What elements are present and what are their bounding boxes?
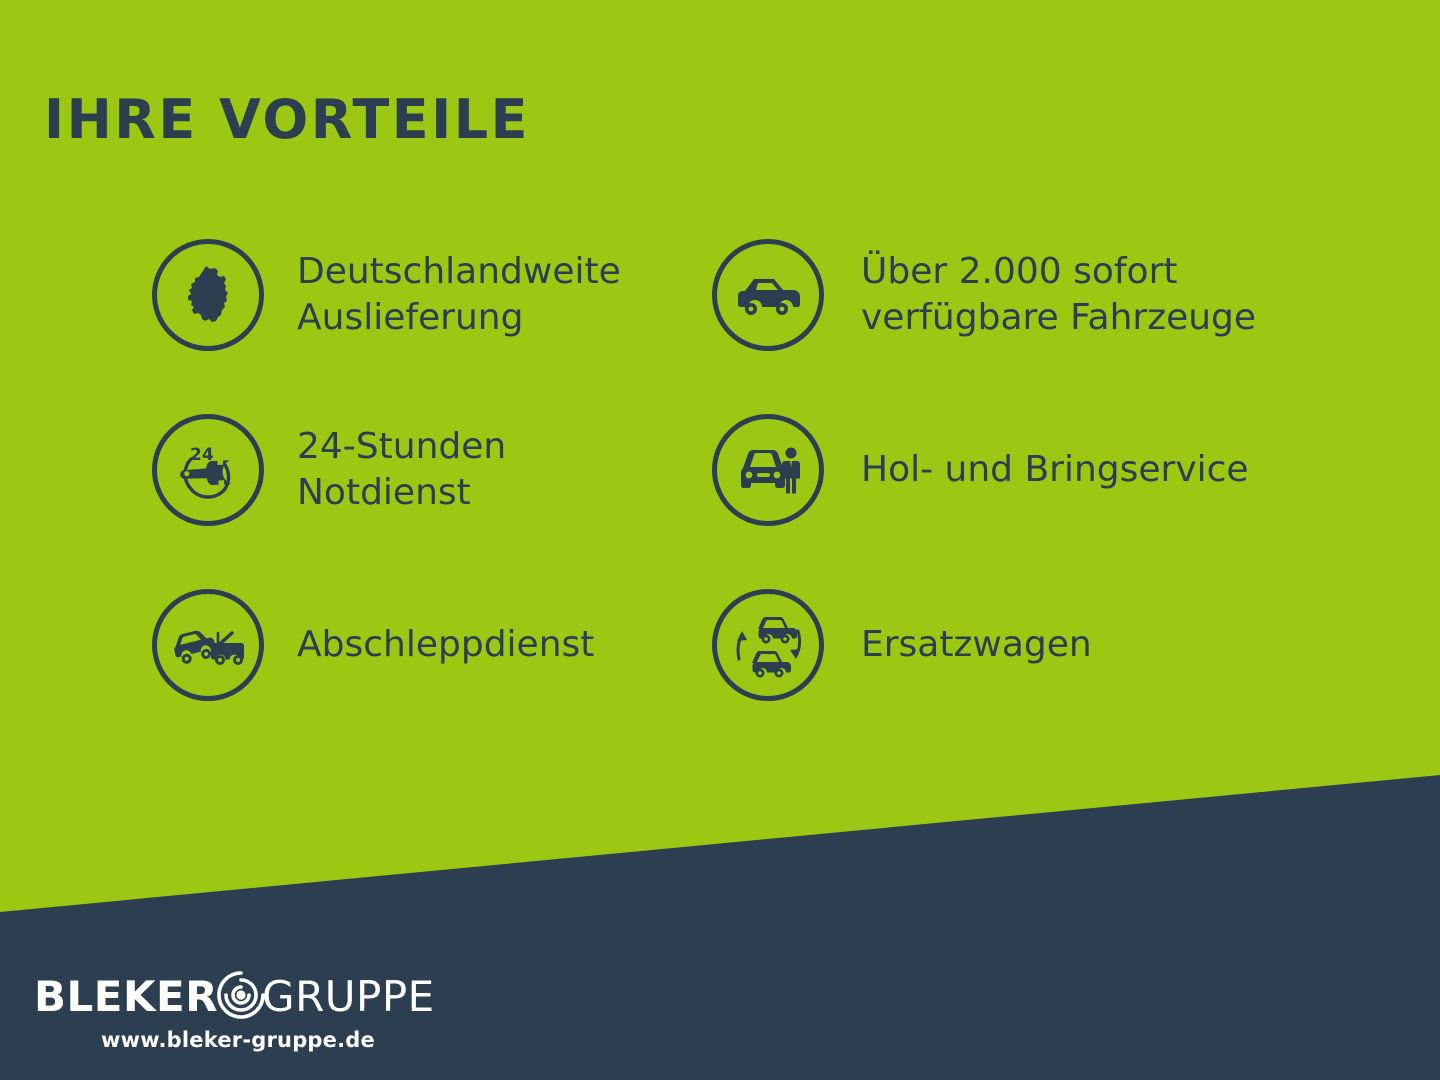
benefit-item-hol-und-bringservice: Hol- und Bringservice [712,397,1272,543]
logo-name-bold: BLEKER [34,976,218,1018]
logo-wordmark: BLEKER GRUPPE [34,974,414,1020]
24-hour-wrench-icon: 24 [173,435,243,505]
benefit-item-verfuegbare-fahrzeuge: Über 2.000 sofort verfügbare Fahrzeuge [712,222,1272,368]
car-side-icon [734,273,802,317]
two-cars-exchange-icon [730,609,806,681]
icon-circle [712,414,824,526]
icon-circle [712,589,824,701]
icon-circle [152,239,264,351]
icon-circle [712,239,824,351]
spiral-icon [214,968,268,1026]
arrow-up [737,631,747,659]
benefit-item-deutschlandweite-auslieferung: Deutschlandweite Auslieferung [152,222,712,368]
page-title: IHRE VORTEILE [44,88,530,151]
logo-name-light: GRUPPE [262,976,435,1018]
benefit-item-ersatzwagen: Ersatzwagen [712,572,1272,718]
company-logo: BLEKER GRUPPE www.bleker-gruppe.de [34,974,414,1052]
benefit-label: Hol- und Bringservice [861,447,1249,493]
tow-truck-icon [169,619,247,671]
benefit-label: Ersatzwagen [861,622,1092,668]
benefit-label: Deutschlandweite Auslieferung [297,249,621,341]
benefits-grid: Deutschlandweite Auslieferung Über 2.000… [152,222,1352,747]
slide-canvas: IHRE VORTEILE Deutschlandweite Ausliefer… [0,0,1440,1080]
benefit-label: 24-Stunden Notdienst [297,424,506,516]
benefit-item-abschleppdienst: Abschleppdienst [152,572,712,718]
logo-website-url: www.bleker-gruppe.de [34,1028,414,1052]
benefit-label: Abschleppdienst [297,622,594,668]
benefit-label: Über 2.000 sofort verfügbare Fahrzeuge [861,249,1256,341]
icon-circle [152,589,264,701]
benefit-item-24-stunden-notdienst: 24 24-Stunden Notdienst [152,397,712,543]
icon-circle: 24 [152,414,264,526]
germany-map-icon [176,263,240,327]
car-with-driver-icon [733,444,803,496]
